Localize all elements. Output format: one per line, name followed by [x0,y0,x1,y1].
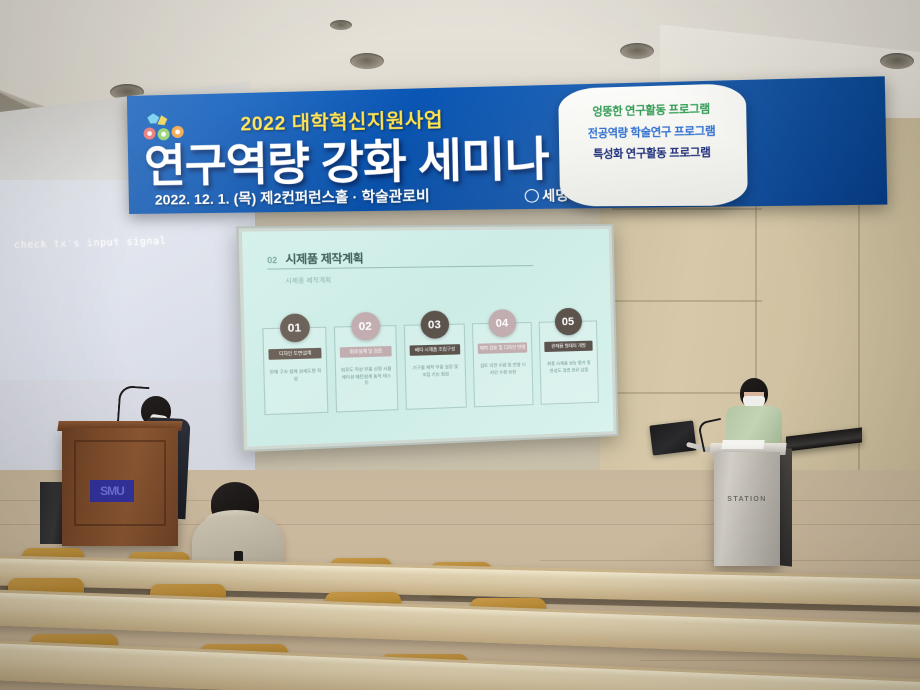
slide-number: 02 [267,256,277,266]
process-step-list: 01 디자인 도면설계 전체 구조 설계 상세도면 작성 02 회로설계 및 검… [260,307,601,390]
program-line: 전공역량 학술연구 프로그램 [566,126,738,141]
lectern-side-post [780,447,792,566]
lectern-brand-label: STATION [714,496,780,503]
process-step: 02 회로설계 및 검증 회로도 작성 부품 선정 시뮬레이션 패턴설계 동작 … [331,312,400,388]
step-tag: 회로설계 및 검증 [340,346,392,358]
step-number-badge: 03 [420,310,449,339]
station-lectern: STATION [714,452,780,566]
presentation-slide: 02 시제품 제작계획 시제품 제작계획 01 디자인 도면설계 전체 구조 설… [242,229,614,447]
banner-title: 연구역량 강화 세미나 [143,121,549,195]
step-body: 회로도 작성 부품 선정 시뮬레이션 패턴설계 동작 테스트 [340,366,392,388]
podium-logo-plaque: SMU [90,480,134,502]
program-line: 엉뚱한 연구활동 프로그램 [566,104,738,120]
projection-console-text: check tx's input signal [14,236,167,251]
floor-plank [640,660,920,661]
banner-date-location: 2022. 12. 1. (목) 제2컨퍼런스홀 · 학술관로비 [155,185,430,209]
event-banner: 2022 대학혁신지원사업 연구역량 강화 세미나 2022. 12. 1. (… [127,76,888,214]
ceiling-downlight [350,53,384,69]
slide-subtitle: 시제품 제작계획 [285,275,331,285]
process-step: 04 제작 검토 및 디자인 반영 검토 의견 수렴 및 반영 디자인 수정 보… [470,309,535,384]
process-step: 01 디자인 도면설계 전체 구조 설계 상세도면 작성 [260,313,330,390]
process-step: 05 완제품 형태의 개발 최종 시제품 성능 평가 및 완성도 검증 완료 납… [536,307,600,381]
ceiling-downlight [620,43,654,59]
process-step: 03 베타 시제품 조립구성 기구물 제작 부품 실장 및 조립 기능 점검 [401,310,468,386]
step-number-badge: 02 [350,312,380,341]
wall-panel-seam [612,300,762,302]
slide-title: 시제품 제작계획 [285,253,363,267]
lectern-script-paper [721,440,765,449]
step-number-badge: 01 [279,313,309,342]
step-body: 최종 시제품 성능 평가 및 완성도 검증 완료 납품 [545,360,594,375]
step-tag: 베타 시제품 조립구성 [410,344,461,356]
projection-screen: 02 시제품 제작계획 시제품 제작계획 01 디자인 도면설계 전체 구조 설… [236,224,618,452]
program-list-panel: 엉뚱한 연구활동 프로그램 전공역량 학술연구 프로그램 특성화 연구활동 프로… [558,83,748,206]
ceiling-downlight [330,20,352,30]
slide-header: 02 시제품 제작계획 [267,246,590,268]
step-body: 전체 구조 설계 상세도면 작성 [269,368,322,383]
step-tag: 디자인 도면설계 [268,348,321,360]
program-line: 특성화 연구활동 프로그램 [567,148,739,162]
confidence-monitor [649,420,696,455]
step-body: 기구물 제작 부품 실장 및 조립 기능 점검 [410,364,461,379]
wall-panel-seam [612,208,762,210]
ceiling-downlight [880,53,914,69]
step-tag: 완제품 형태의 개발 [544,341,592,352]
university-seal-icon [525,189,539,203]
step-tag: 제작 검토 및 디자인 반영 [478,342,528,354]
auditorium-photo: check tx's input signal 2022 대학혁신지원사업 연구… [0,0,920,690]
step-number-badge: 04 [488,309,516,337]
wooden-podium: SMU [62,428,178,546]
step-body: 검토 의견 수렴 및 반영 디자인 수정 보완 [478,362,528,377]
step-number-badge: 05 [554,308,582,336]
